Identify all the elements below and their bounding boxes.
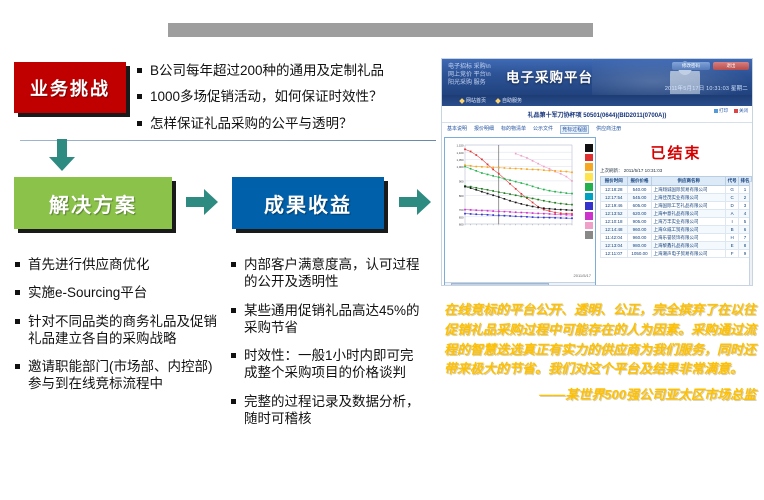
table-row[interactable]: 12:19:46605.00上海国际工艺礼品有限公司D3: [601, 202, 752, 210]
solution-bullet-list: 首先进行供应商优化 实施e-Sourcing平台 针对不同品类的商务礼品及促销礼…: [14, 256, 220, 404]
nav-item-home-label: 网站首页: [466, 97, 486, 104]
list-item: 内部客户满意度高，认可过程的公开及透明性: [230, 256, 426, 291]
svg-text:700: 700: [459, 208, 464, 212]
table-cell: C: [726, 194, 739, 202]
table-cell: I: [726, 218, 739, 226]
list-item: 怎样保证礼品采购的公平与透明？: [136, 115, 436, 132]
nav-bullet-icon: [495, 98, 501, 104]
svg-text:1,100: 1,100: [457, 151, 464, 155]
table-header-row: 报价时间报价价格供应商名称代号排名: [601, 177, 752, 186]
table-cell: 960.00: [627, 234, 652, 242]
table-cell: 540.00: [627, 186, 652, 194]
table-row[interactable]: 12:14:48960.00上海众威工贸有限公司B6: [601, 226, 752, 234]
table-col-0: 报价时间: [601, 177, 628, 186]
list-item: 首先进行供应商优化: [14, 256, 220, 273]
close-button[interactable]: 关闭: [734, 108, 748, 114]
last-updated-label: 上次刷新： 2011/5/17 10:31:03: [600, 168, 752, 176]
svg-text:650: 650: [459, 215, 464, 219]
table-row[interactable]: 12:13:52620.00上海中意礼品有限公司A4: [601, 210, 752, 218]
svg-text:1,000: 1,000: [457, 165, 464, 169]
list-item: 1000多场促销活动，如何保证时效性？: [136, 88, 436, 105]
stage-label-benefit: 成果收益: [264, 189, 352, 218]
table-row[interactable]: 12:11:071050.00上海潮声电子贸易有限公司F9: [601, 250, 752, 258]
tab-item-list[interactable]: 标的物清单: [501, 125, 526, 134]
svg-text:900: 900: [459, 180, 464, 184]
app-nav-bar: 网站首页 自助服务: [442, 95, 752, 106]
app-screenshot: 电子招标 采购\n网上竞价 平台\n阳光采购 服务 电子采购平台 修改密码 退出…: [441, 58, 753, 286]
table-row[interactable]: 11:42:04960.00上海乐誉装饰有限公司H7: [601, 234, 752, 242]
app-tab-bar: 基本说明 报价明细 标的物清单 公示文件 竞标过程图 供应商注册: [442, 123, 752, 136]
table-cell: 905.00: [627, 218, 652, 226]
print-button[interactable]: 打印: [714, 108, 728, 114]
divider-rule: [20, 140, 436, 141]
legend-swatch: [585, 183, 593, 191]
table-cell: 1050.00: [627, 250, 652, 258]
table-cell: 上海万丰实业有限公司: [652, 218, 726, 226]
table-cell: 12:13:04: [601, 242, 628, 250]
chart-date-label: 2011/5/17: [574, 273, 592, 278]
table-cell: 上海中意礼品有限公司: [652, 210, 726, 218]
bidding-line-chart: 6006507008009001,0001,0501,1001,150: [448, 142, 576, 234]
app-header-banner: 电子招标 采购\n网上竞价 平台\n阳光采购 服务 电子采购平台 修改密码 退出…: [442, 59, 752, 95]
table-cell: 12:11:07: [601, 250, 628, 258]
tab-bidding-chart[interactable]: 竞标过程图: [560, 125, 589, 134]
logout-button[interactable]: 退出: [713, 62, 749, 70]
table-row[interactable]: 12:13:04980.00上海黎鑫礼品有限公司E8: [601, 242, 752, 250]
table-cell: 12:14:48: [601, 226, 628, 234]
table-cell: 12:17:54: [601, 194, 628, 202]
table-row[interactable]: 12:10:18905.00上海万丰实业有限公司I5: [601, 218, 752, 226]
bid-table-pane: 已结束 上次刷新： 2011/5/17 10:31:03 报价时间报价价格供应商…: [596, 136, 752, 286]
table-cell: 上海佳茂实业有限公司: [652, 194, 726, 202]
table-vertical-scrollbar[interactable]: [749, 181, 753, 286]
stage-label-solution: 解决方案: [49, 189, 137, 218]
tab-basic-info[interactable]: 基本说明: [447, 125, 467, 134]
slide-canvas: 案例：B公司促销礼品及通用礼品的采购项目 业务挑战 B公司每年超过200种的通用…: [0, 0, 764, 500]
table-cell: 上海众威工贸有限公司: [652, 226, 726, 234]
arrow-right-icon-2: [399, 188, 432, 216]
bidding-chart-pane[interactable]: 6006507008009001,0001,0501,1001,150 2011…: [444, 137, 596, 286]
stage-box-challenge[interactable]: 业务挑战: [14, 62, 126, 113]
app-logo: 电子招标 采购\n网上竞价 平台\n阳光采购 服务: [448, 63, 494, 89]
slide-title: 案例：B公司促销礼品及通用礼品的采购项目: [168, 21, 593, 38]
table-body: 12:18:28540.00上海翔诚国际贸易有限公司G112:17:54545.…: [601, 186, 752, 258]
list-item: 邀请职能部门(市场部、内控部)参与到在线竞标流程中: [14, 358, 220, 393]
table-cell: 620.00: [627, 210, 652, 218]
chart-horizontal-scrollbar[interactable]: [445, 282, 595, 286]
legend-swatch: [585, 231, 593, 239]
legend-swatch: [585, 163, 593, 171]
table-row[interactable]: 12:18:28540.00上海翔诚国际贸易有限公司G1: [601, 186, 752, 194]
auction-subject-line: 礼品第十军刀协杯项 50501(0644)(BID2011(0700A)): [442, 106, 752, 123]
svg-text:600: 600: [459, 223, 464, 227]
list-item: 某些通用促销礼品高达45%的采购节省: [230, 302, 426, 337]
stage-label-challenge: 业务挑战: [30, 75, 110, 101]
chart-color-legend: [585, 144, 593, 239]
arrow-right-icon-1: [186, 188, 219, 216]
change-password-button[interactable]: 修改密码: [672, 62, 710, 70]
table-cell: G: [726, 186, 739, 194]
table-cell: E: [726, 242, 739, 250]
tab-quote-detail[interactable]: 报价明细: [474, 125, 494, 134]
close-label: 关闭: [739, 108, 748, 114]
table-cell: 605.00: [627, 202, 652, 210]
table-cell: H: [726, 234, 739, 242]
table-cell: 上海乐誉装饰有限公司: [652, 234, 726, 242]
slide-title-redacted-text: 案例：B公司促销礼品及通用礼品的采购项目: [168, 23, 593, 37]
list-item: 时效性：一般1小时内即可完成整个采购项目的价格谈判: [230, 347, 426, 382]
bid-table: 报价时间报价价格供应商名称代号排名 12:18:28540.00上海翔诚国际贸易…: [600, 176, 752, 258]
table-cell: 上海黎鑫礼品有限公司: [652, 242, 726, 250]
table-col-1: 报价价格: [627, 177, 652, 186]
tab-public-docs[interactable]: 公示文件: [533, 125, 553, 134]
table-cell: 上海国际工艺礼品有限公司: [652, 202, 726, 210]
printer-icon: [714, 109, 718, 113]
legend-swatch: [585, 222, 593, 230]
svg-text:1,050: 1,050: [457, 158, 464, 162]
svg-text:800: 800: [459, 194, 464, 198]
challenge-bullet-list: B公司每年超过200种的通用及定制礼品 1000多场促销活动，如何保证时效性？ …: [136, 62, 436, 141]
list-item: B公司每年超过200种的通用及定制礼品: [136, 62, 436, 79]
testimonial-quote: 在线竞标的平台公开、透明、公正，完全摈弃了在以往促销礼品采购过程中可能存在的人为…: [444, 300, 756, 405]
table-cell: F: [726, 250, 739, 258]
table-cell: 980.00: [627, 242, 652, 250]
table-cell: 12:18:28: [601, 186, 628, 194]
table-cell: 12:10:18: [601, 218, 628, 226]
close-icon: [734, 109, 738, 113]
app-toolbar-right: 打印 关闭: [714, 108, 748, 114]
nav-bullet-icon: [459, 98, 465, 104]
svg-text:1,150: 1,150: [457, 144, 464, 148]
list-item: 针对不同品类的商务礼品及促销礼品建立各自的采购战略: [14, 313, 220, 348]
legend-swatch: [585, 144, 593, 152]
tab-supplier-registration[interactable]: 供应商注册: [596, 125, 621, 134]
arrow-down-icon: [48, 139, 76, 172]
status-badge: 已结束: [600, 136, 752, 168]
app-datetime: 2011年5月17日 10:31:03 星期二: [665, 84, 748, 92]
stage-box-solution[interactable]: 解决方案: [14, 177, 172, 229]
table-cell: 12:19:46: [601, 202, 628, 210]
table-cell: 11:42:04: [601, 234, 628, 242]
list-item: 完整的过程记录及数据分析，随时可稽核: [230, 393, 426, 428]
legend-swatch: [585, 193, 593, 201]
print-label: 打印: [719, 108, 728, 114]
app-body: 6006507008009001,0001,0501,1001,150 2011…: [442, 136, 752, 286]
testimonial-attribution: ——某世界500强公司亚太区市场总监: [444, 385, 756, 405]
table-col-3: 代号: [726, 177, 739, 186]
table-cell: A: [726, 210, 739, 218]
legend-swatch: [585, 212, 593, 220]
nav-item-home[interactable]: 网站首页: [460, 97, 486, 104]
table-cell: 上海潮声电子贸易有限公司: [652, 250, 726, 258]
table-cell: B: [726, 226, 739, 234]
table-row[interactable]: 12:17:54545.00上海佳茂实业有限公司C2: [601, 194, 752, 202]
testimonial-text: 在线竞标的平台公开、透明、公正，完全摈弃了在以往促销礼品采购过程中可能存在的人为…: [444, 302, 756, 376]
banner-person-icon: [670, 61, 700, 94]
legend-swatch: [585, 154, 593, 162]
table-cell: 545.00: [627, 194, 652, 202]
table-cell: 12:13:52: [601, 210, 628, 218]
legend-swatch: [585, 202, 593, 210]
table-cell: D: [726, 202, 739, 210]
list-item: 实施e-Sourcing平台: [14, 284, 220, 301]
stage-box-benefit[interactable]: 成果收益: [232, 177, 384, 229]
legend-swatch: [585, 173, 593, 181]
table-cell: 960.00: [627, 226, 652, 234]
app-title: 电子采购平台: [506, 66, 593, 86]
table-col-2: 供应商名称: [652, 177, 726, 186]
nav-item-self-service[interactable]: 自助服务: [496, 97, 522, 104]
benefit-bullet-list: 内部客户满意度高，认可过程的公开及透明性 某些通用促销礼品高达45%的采购节省 …: [230, 256, 426, 438]
nav-item-self-service-label: 自助服务: [502, 97, 522, 104]
table-cell: 上海翔诚国际贸易有限公司: [652, 186, 726, 194]
